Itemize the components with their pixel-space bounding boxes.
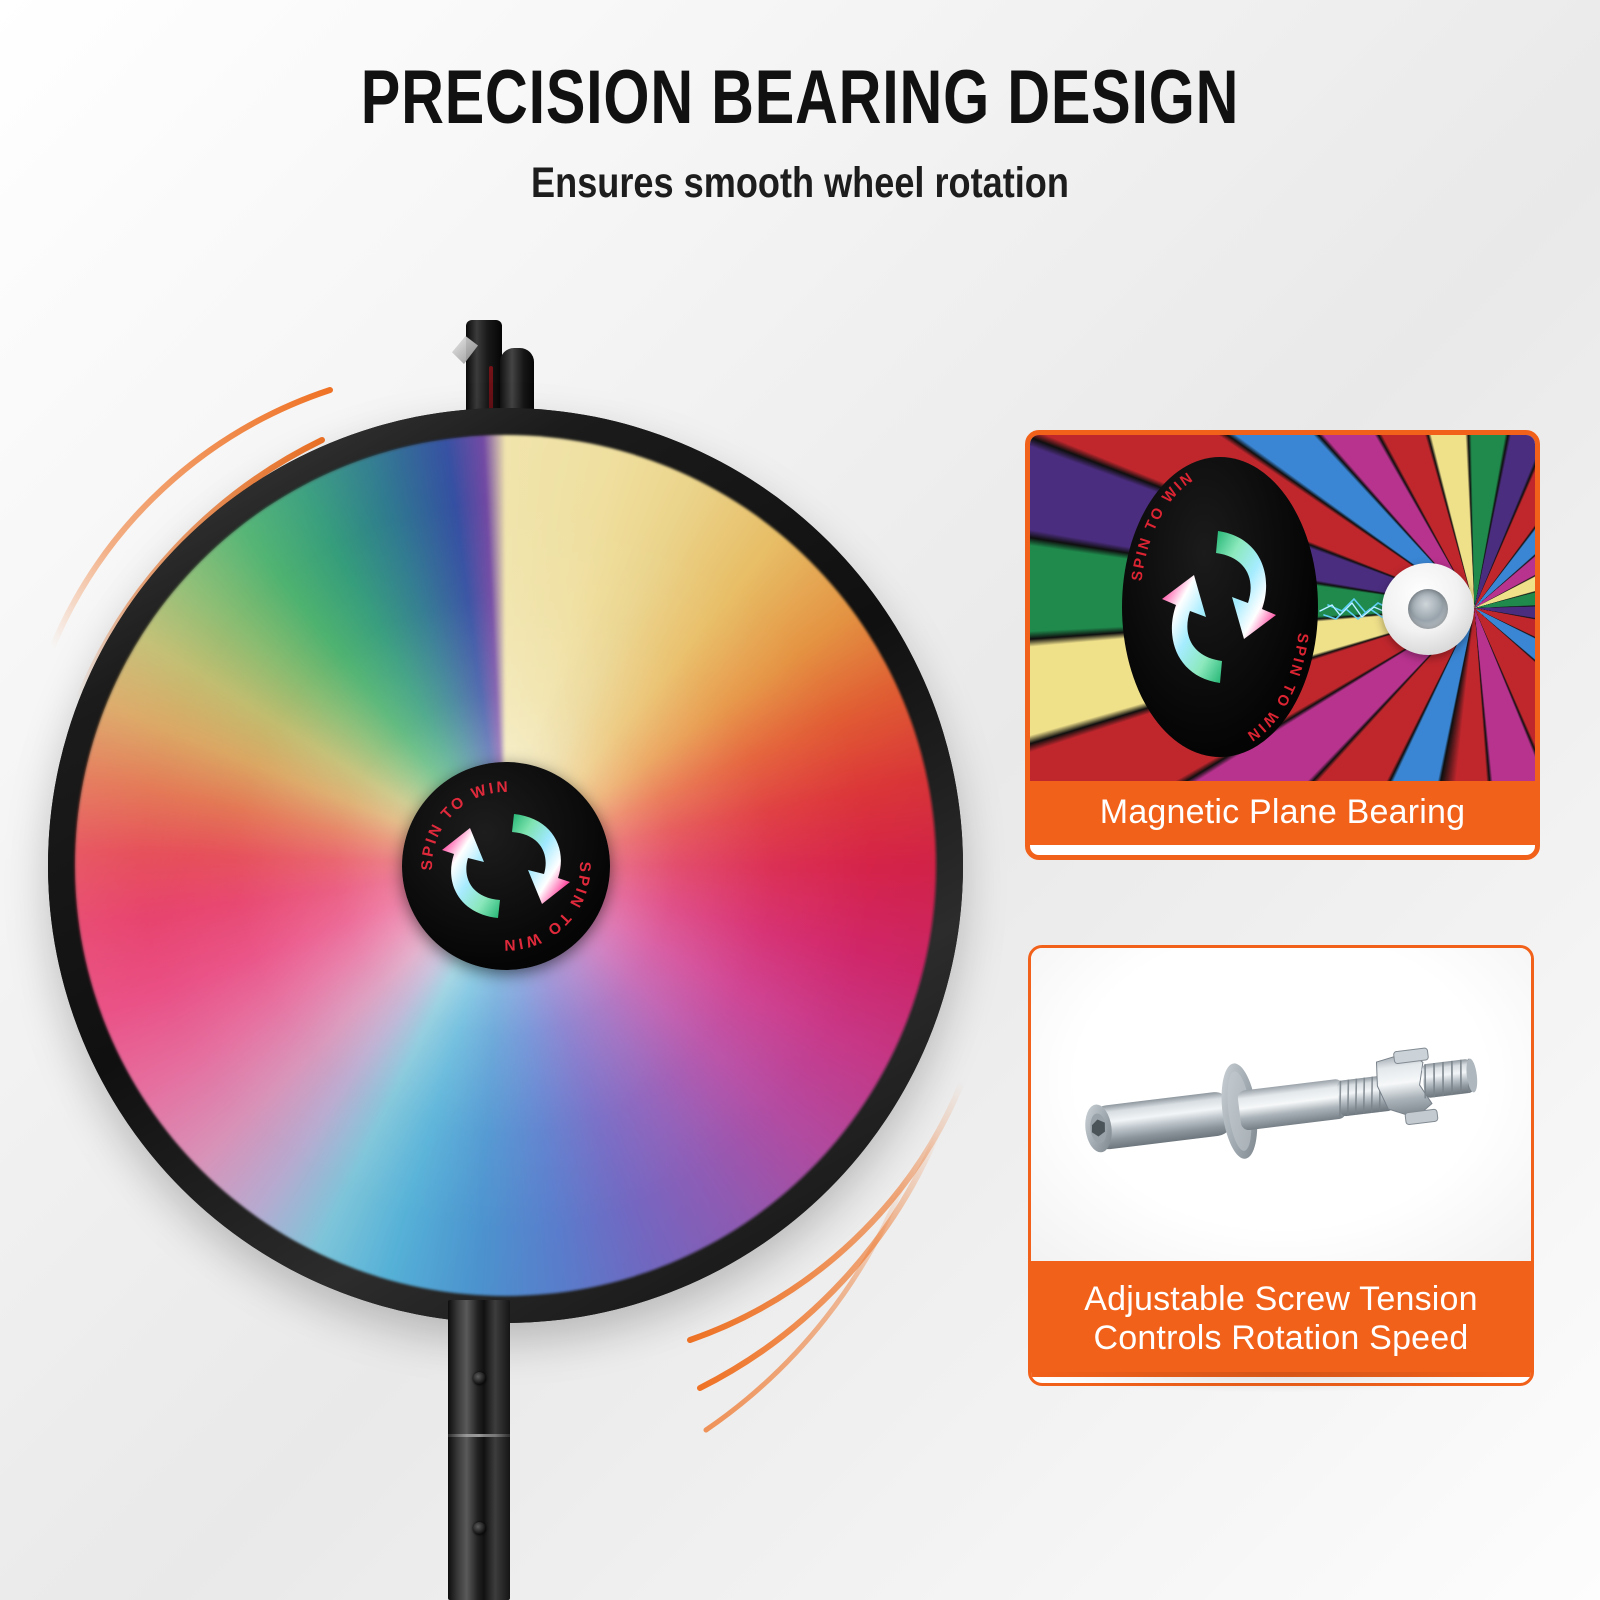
header-block: PRECISION BEARING DESIGN Ensures smooth …	[0, 60, 1600, 205]
wheel-stand-pole	[448, 1300, 510, 1600]
product-marketing-banner: PRECISION BEARING DESIGN Ensures smooth …	[0, 0, 1600, 1600]
panel-caption-line1: Adjustable Screw Tension	[1084, 1280, 1478, 1319]
panel-caption-screw-tension: Adjustable Screw Tension Controls Rotati…	[1031, 1261, 1531, 1377]
rotation-arrows-icon	[442, 814, 570, 918]
page-title: PRECISION BEARING DESIGN	[176, 60, 1424, 136]
barrel-bolt-screw-icon	[1075, 1016, 1488, 1194]
closeup-hub: SPIN TO WIN SPIN TO WIN	[1122, 457, 1318, 757]
closeup-hub-label-bottom: SPIN TO WIN	[1242, 632, 1311, 746]
prize-wheel[interactable]: SPIN TO WIN SPIN TO WIN	[48, 408, 963, 1323]
panel-caption-line2: Controls Rotation Speed	[1084, 1319, 1478, 1358]
feature-panel-magnetic-bearing[interactable]: SPIN TO WIN SPIN TO WIN	[1025, 430, 1540, 860]
pole-screw-upper	[473, 1372, 486, 1385]
wheel-hub[interactable]: SPIN TO WIN SPIN TO WIN	[402, 762, 610, 970]
feature-image-screw	[1031, 948, 1531, 1261]
closeup-hub-label-top: SPIN TO WIN	[1129, 468, 1198, 582]
magnetic-bearing-disc	[1382, 563, 1474, 655]
feature-panel-screw-tension[interactable]: Adjustable Screw Tension Controls Rotati…	[1028, 945, 1534, 1386]
panel-caption-magnetic-bearing: Magnetic Plane Bearing	[1030, 781, 1535, 845]
page-subtitle: Ensures smooth wheel rotation	[128, 162, 1472, 205]
pole-screw-lower	[473, 1522, 486, 1535]
feature-image-magnetic-bearing: SPIN TO WIN SPIN TO WIN	[1030, 435, 1535, 781]
closeup-rotation-arrows-icon	[1162, 531, 1276, 683]
panel-drop-shadow	[1028, 1372, 1528, 1392]
